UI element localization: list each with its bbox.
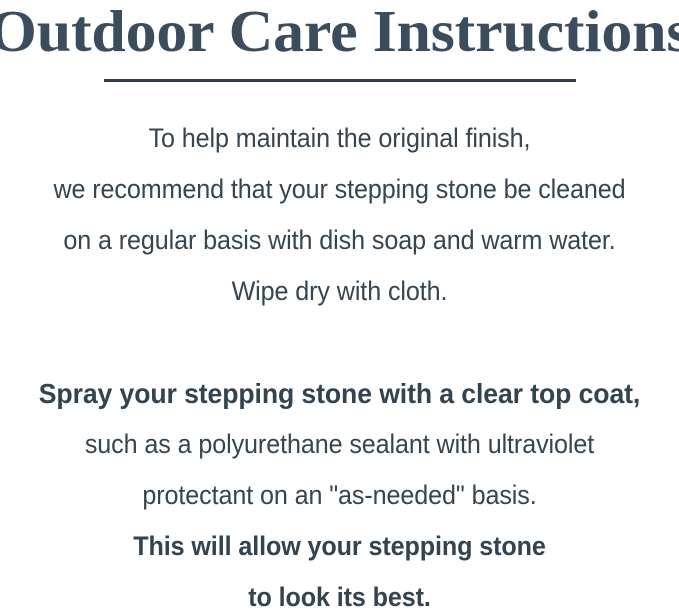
text-line: on a regular basis with dish soap and wa… xyxy=(24,215,655,266)
text-line-emphasized: Spray your stepping stone with a clear t… xyxy=(17,368,662,419)
text-line: we recommend that your stepping stone be… xyxy=(24,164,655,215)
paragraph-sealant-instructions: Spray your stepping stone with a clear t… xyxy=(0,368,679,613)
title-divider-rule xyxy=(104,79,576,82)
text-line-emphasized: to look its best. xyxy=(24,572,655,613)
outdoor-care-instructions-card: Outdoor Care Instructions To help mainta… xyxy=(0,0,679,613)
text-line: To help maintain the original finish, xyxy=(24,113,655,164)
text-line: Wipe dry with cloth. xyxy=(24,266,655,317)
text-line-emphasized: This will allow your stepping stone xyxy=(24,521,655,572)
title-block: Outdoor Care Instructions xyxy=(0,0,679,82)
body-block: To help maintain the original finish, we… xyxy=(0,113,679,613)
paragraph-spacer xyxy=(0,317,679,368)
text-line: protectant on an "as-needed" basis. xyxy=(24,470,655,521)
page-title: Outdoor Care Instructions xyxy=(0,0,679,59)
text-line: such as a polyurethane sealant with ultr… xyxy=(24,419,655,470)
paragraph-cleaning-instructions: To help maintain the original finish, we… xyxy=(0,113,679,317)
